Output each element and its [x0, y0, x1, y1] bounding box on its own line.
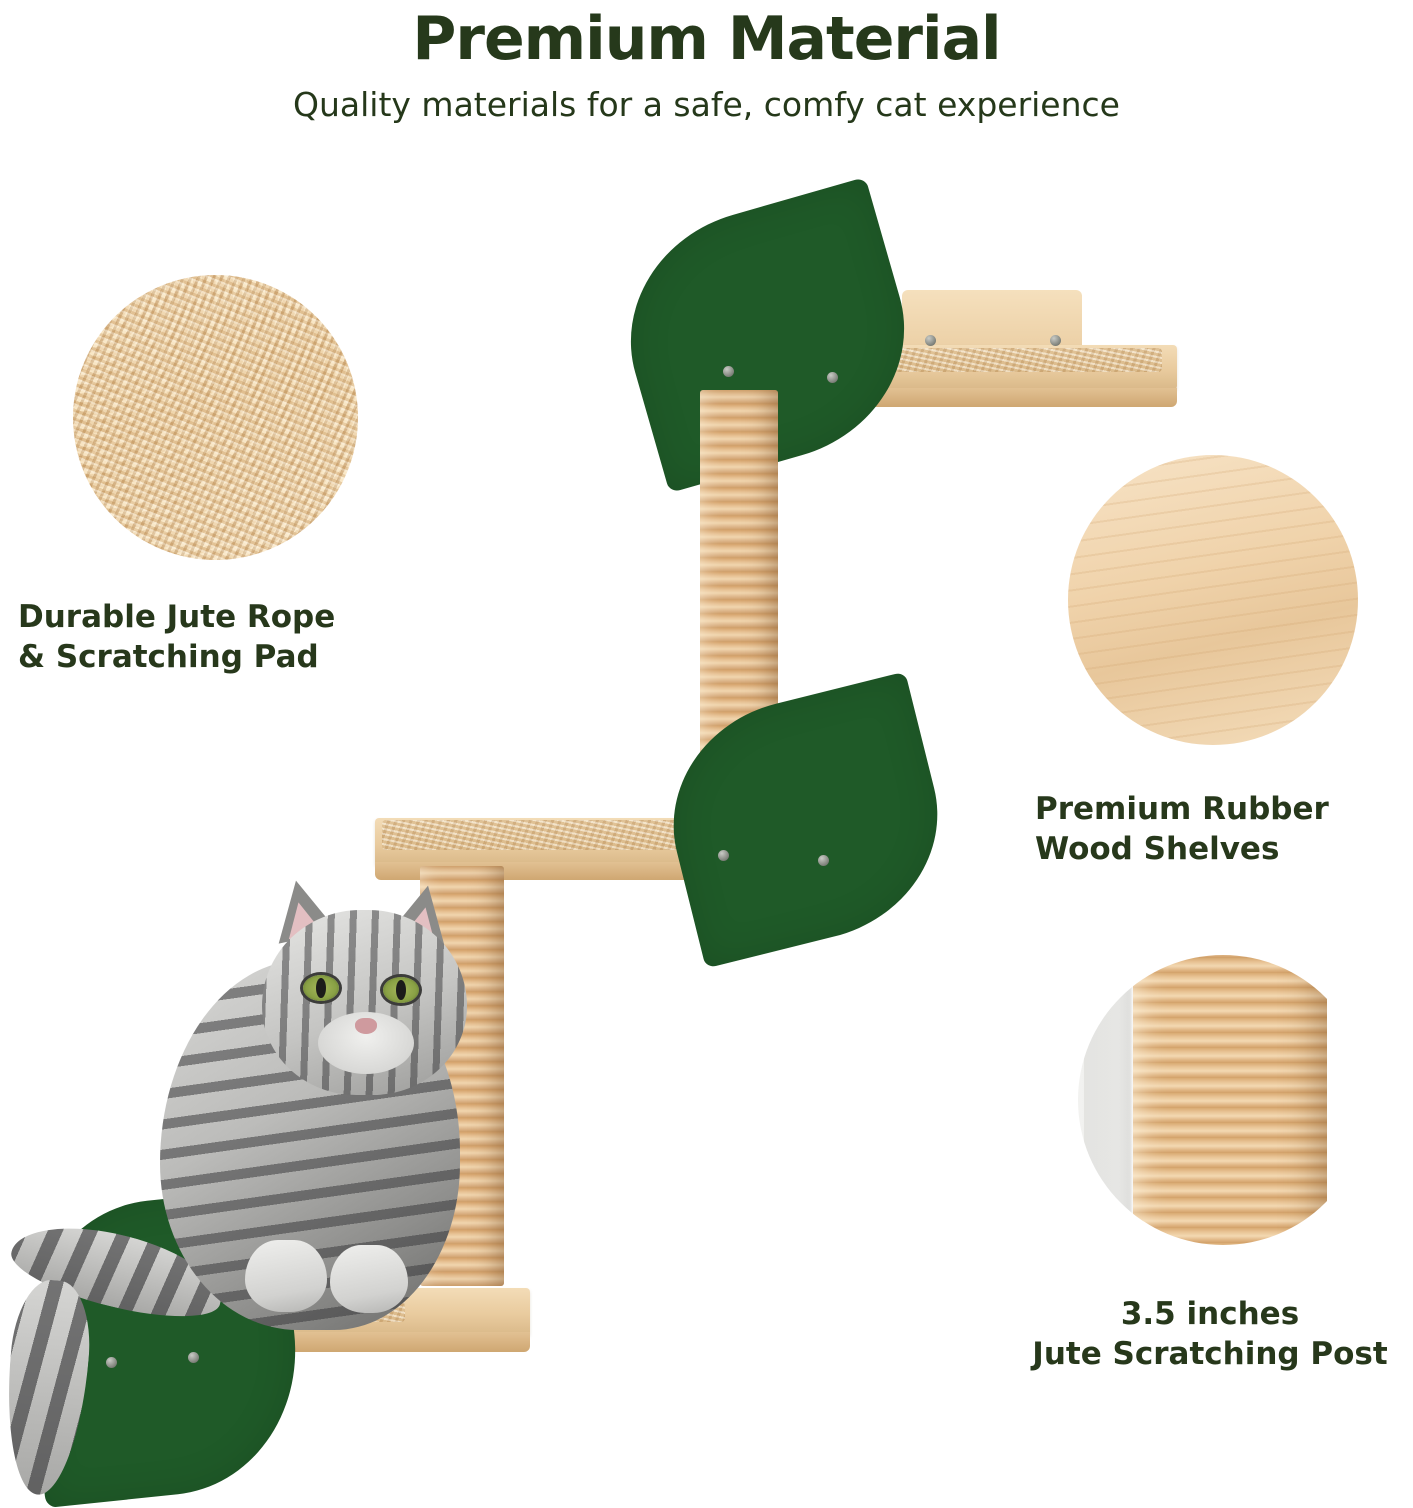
cat-eye-right [383, 977, 419, 1003]
jute-scratching-post-upper [700, 390, 778, 860]
scratching-pad-middle [382, 820, 700, 850]
cat-front-paw-left [245, 1240, 327, 1312]
cat-front-paw-right [330, 1245, 408, 1313]
screw-icon [1050, 335, 1061, 346]
cat-tail [4, 1210, 230, 1332]
cat-ear-left [267, 874, 338, 943]
cat-eye-left [303, 975, 339, 1001]
header: Premium Material Quality materials for a… [0, 0, 1413, 125]
cat-body [160, 960, 460, 1330]
green-leaf-shelf-bottom [15, 1187, 309, 1508]
green-leaf-shelf-middle [648, 672, 963, 969]
screw-icon [106, 1357, 117, 1368]
post-cylinder [1133, 955, 1327, 1245]
cat-ear-right [387, 879, 458, 948]
screw-icon [723, 366, 734, 377]
page-title: Premium Material [0, 8, 1413, 71]
callout-label-rubber-wood: Premium Rubber Wood Shelves [1035, 790, 1413, 869]
callout-label-jute-rope: Durable Jute Rope & Scratching Pad [18, 598, 448, 677]
cat-tail-tip [0, 1277, 95, 1498]
cat-pupil-right [396, 980, 406, 1000]
scratching-pad-top [862, 348, 1162, 372]
jute-scratching-post-lower [420, 866, 504, 1286]
screw-icon [718, 850, 729, 861]
wood-shelf-middle [375, 818, 715, 866]
swatch-rubber-wood [1068, 455, 1358, 745]
cat-head [262, 910, 467, 1095]
cat-nose [355, 1018, 377, 1034]
swatch-jute-rope [73, 275, 358, 560]
green-leaf-shelf-top [601, 177, 934, 493]
page-subtitle: Quality materials for a safe, comfy cat … [0, 85, 1413, 125]
cat-pupil-left [316, 978, 326, 998]
wood-shelf-base [120, 1288, 530, 1336]
screw-icon [925, 335, 936, 346]
wood-shelf-top-right [672, 345, 1177, 390]
cat-ear-left-inner [282, 899, 322, 939]
wood-shelf-middle-edge [375, 862, 715, 880]
scratching-pad-base [130, 1290, 405, 1322]
screw-icon [827, 372, 838, 383]
wall-mount-backplate [902, 290, 1082, 348]
wood-shelf-top-right-edge [672, 388, 1177, 407]
callout-label-jute-post: 3.5 inches Jute Scratching Post [1000, 1295, 1413, 1374]
screw-icon [188, 1352, 199, 1363]
cat-muzzle [318, 1012, 414, 1074]
screw-icon [818, 855, 829, 866]
swatch-jute-post [1078, 955, 1368, 1245]
cat-tree-illustration [0, 0, 1413, 1500]
wood-shelf-base-edge [120, 1332, 530, 1352]
cat-ear-right-inner [402, 904, 442, 944]
